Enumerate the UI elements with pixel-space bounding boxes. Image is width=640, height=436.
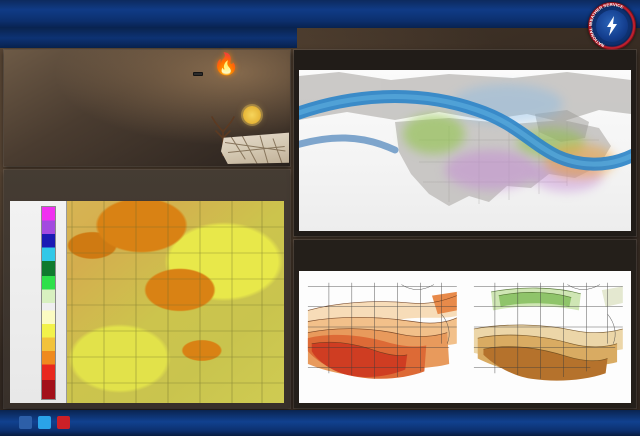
flame-icon: 🔥: [213, 54, 239, 75]
cpc-precipitation-map[interactable]: [465, 271, 631, 403]
cpc-outlooks-panel: [294, 240, 636, 408]
footer-bar: [0, 410, 640, 436]
cpc-subtitles: [294, 257, 636, 267]
temperature-outlook-shading: [306, 279, 459, 390]
polar-jet-stream-ribbon: [299, 88, 631, 208]
youtube-icon[interactable]: [57, 416, 70, 429]
rainfall-colorbar: [10, 201, 67, 403]
precipitation-outlook-shading: [472, 279, 625, 390]
cpc-temperature-map[interactable]: [299, 271, 465, 403]
weather-infographic: NATIONAL WEATHER SERVICE 🔥: [0, 0, 640, 436]
logo-ring-text: NATIONAL WEATHER SERVICE: [589, 3, 635, 49]
sun-icon: [243, 106, 261, 124]
twitter-icon[interactable]: [38, 416, 51, 429]
subtitle-bar: [0, 28, 297, 48]
cpc-map-pair: [299, 271, 631, 403]
svg-text:NATIONAL WEATHER SERVICE: NATIONAL WEATHER SERVICE: [589, 3, 624, 48]
colorbar-gradient-strip: [41, 206, 56, 400]
elevated-fire-danger-badge: [193, 72, 203, 76]
header-bar: [0, 0, 640, 28]
la-nina-map[interactable]: [299, 70, 631, 231]
summary-panel: 🔥: [4, 50, 290, 166]
facebook-icon[interactable]: [19, 416, 32, 429]
la-nina-pattern-panel: [294, 50, 636, 236]
nws-logo-icon: NATIONAL WEATHER SERVICE: [588, 2, 636, 50]
rainfall-departure-panel: [4, 170, 290, 408]
